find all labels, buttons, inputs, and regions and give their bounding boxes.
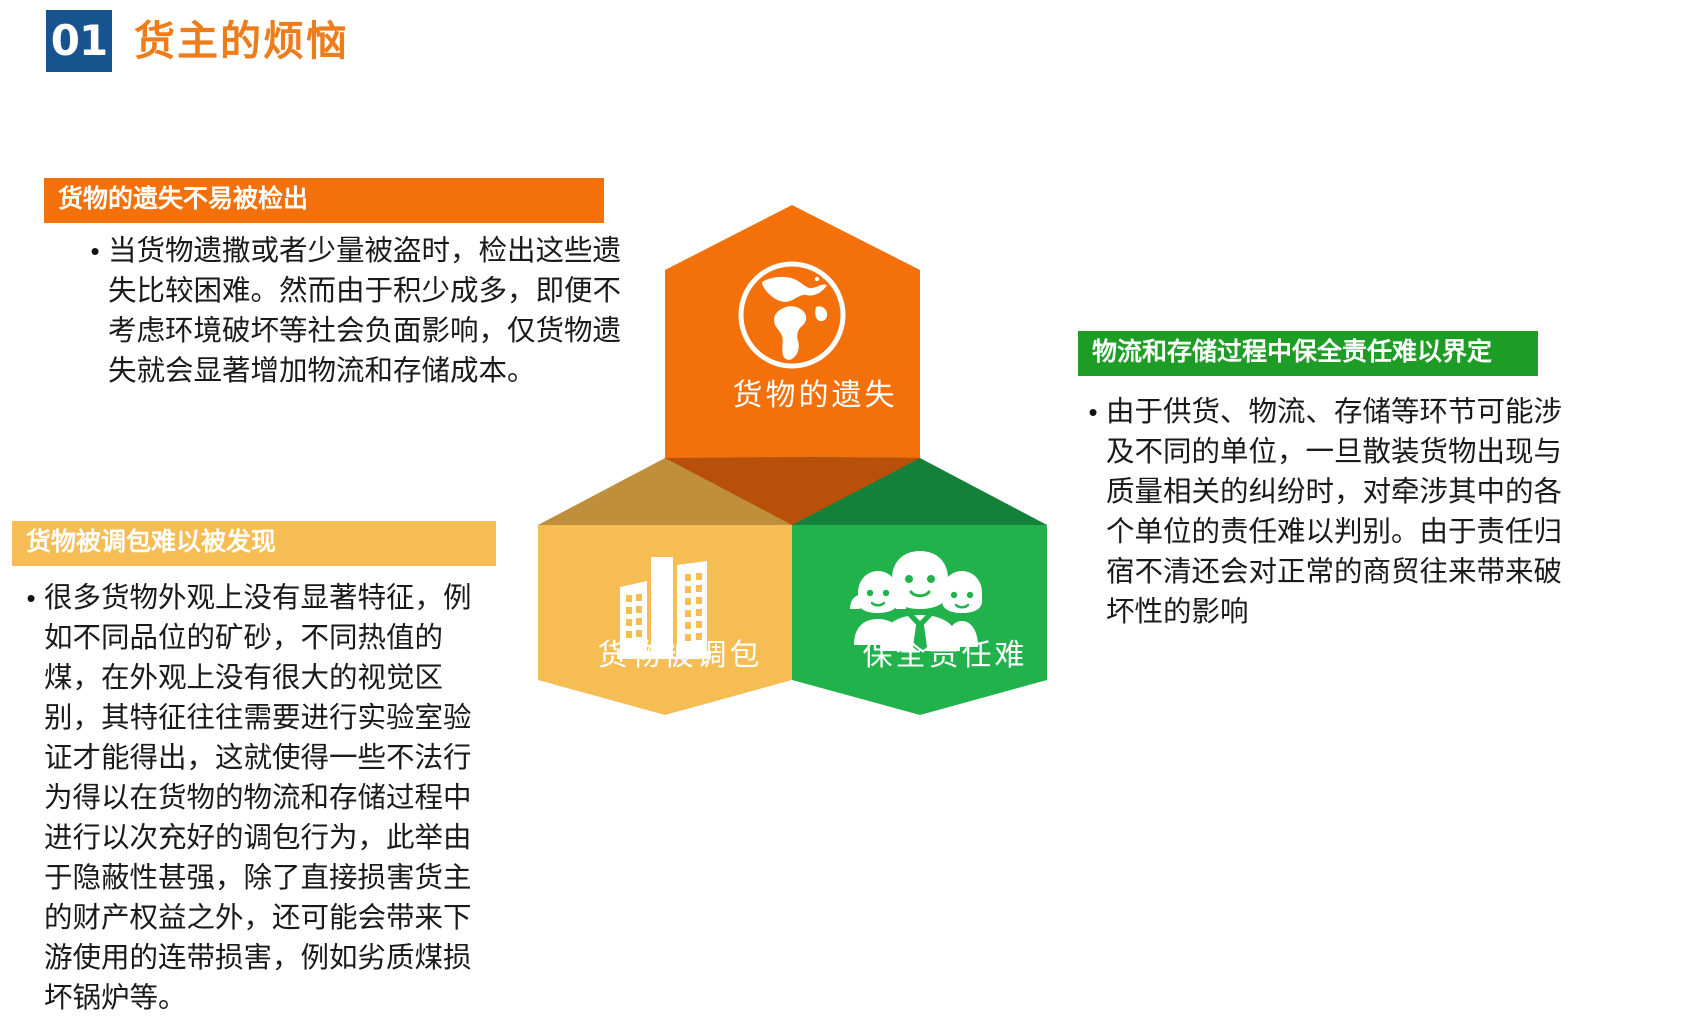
hex-label-cargo-swap: 货物被调包 <box>565 630 795 674</box>
hex-label-liability: 保全责任难 <box>830 630 1060 674</box>
bullet-marker-icon: • <box>18 578 44 618</box>
panel-cargo-swap-body: 很多货物外观上没有显著特征，例如不同品位的矿砂，不同热值的煤，在外观上没有很大的… <box>44 578 494 1018</box>
panel-liability-bullet: • 由于供货、物流、存储等环节可能涉及不同的单位，一旦散装货物出现与质量相关的纠… <box>1070 392 1670 632</box>
slide-header: 01 货主的烦恼 <box>46 10 349 72</box>
panel-liability-body: 由于供货、物流、存储等环节可能涉及不同的单位，一旦散装货物出现与质量相关的纠纷时… <box>1106 392 1571 632</box>
section-number-badge: 01 <box>46 10 112 72</box>
bullet-marker-icon: • <box>1080 392 1106 432</box>
hexagon-diagram: 货物的遗失 货物被调包 保全责任难 <box>520 205 1065 715</box>
section-number: 01 <box>51 20 107 62</box>
panel-liability-heading: 物流和存储过程中保全责任难以界定 <box>1078 331 1538 376</box>
panel-cargo-swap: 货物被调包难以被发现 • 很多货物外观上没有显著特征，例如不同品位的矿砂，不同热… <box>12 521 512 1018</box>
panel-liability: 物流和存储过程中保全责任难以界定 • 由于供货、物流、存储等环节可能涉及不同的单… <box>1070 331 1670 632</box>
page-title: 货主的烦恼 <box>134 21 349 62</box>
hex-label-cargo-loss: 货物的遗失 <box>700 370 930 414</box>
panel-cargo-swap-heading: 货物被调包难以被发现 <box>12 521 496 566</box>
panel-cargo-swap-bullet: • 很多货物外观上没有显著特征，例如不同品位的矿砂，不同热值的煤，在外观上没有很… <box>12 578 512 1018</box>
bullet-marker-icon: • <box>82 231 108 271</box>
